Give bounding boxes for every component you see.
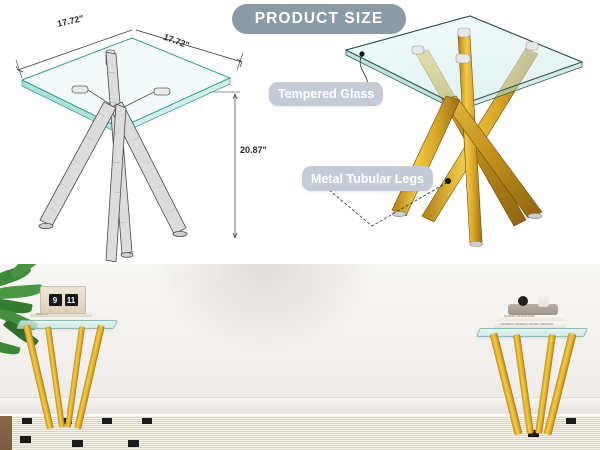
product-size-infographic: 17.72" 17.72" 20.87" [0,0,600,450]
rug-dash [566,418,576,424]
rug-dash [128,440,139,447]
spec-panel: 17.72" 17.72" 20.87" [0,0,600,264]
callout-tempered-glass-label: Tempered Glass [278,87,374,101]
dimension-height-label: 20.87" [240,145,267,155]
product-render-gold-table [330,14,600,264]
decor-vase [538,290,549,307]
rug-dash [142,418,152,424]
leader-dot-glass [359,51,364,56]
callout-metal-tubular-legs: Metal Tubular Legs [302,166,433,191]
clock-minutes: 11 [65,294,78,306]
flip-clock: 9 11 [40,286,86,314]
wall-shadow [150,264,380,354]
decor-tray [508,304,558,315]
callout-metal-tubular-legs-label: Metal Tubular Legs [311,172,424,186]
rug-dash [22,418,32,424]
clock-hours: 9 [49,294,62,306]
rug-dash [20,436,31,443]
banner-title: PRODUCT SIZE [255,10,384,28]
rug-dash [72,440,83,447]
banner-product-size: PRODUCT SIZE [232,4,406,34]
callout-tempered-glass: Tempered Glass [269,82,383,106]
decor-candle [518,296,528,306]
leader-dot-legs [445,178,451,184]
cad-line-drawing [4,12,274,262]
book-right-top-title: MORENO ORANGE SIDE [504,315,534,318]
rug-dash [102,418,112,424]
lifestyle-photo: ROSETTA 9 11 [0,264,600,450]
book-right-bottom-title: ALBORETTO BARRICA VINI DEL TRENTINO [500,323,553,326]
